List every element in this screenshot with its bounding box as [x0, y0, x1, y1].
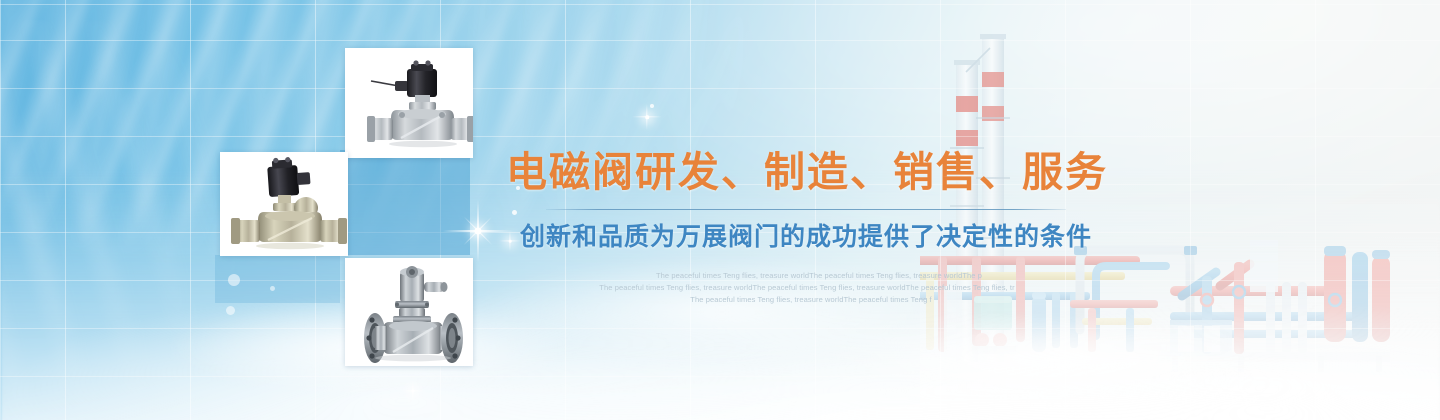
banner-subheadline: 创新和品质为万展阀门的成功提供了决定性的条件 — [506, 221, 1106, 254]
banner-copy: 电磁阀研发、制造、销售、服务 创新和品质为万展阀门的成功提供了决定性的条件 Th… — [506, 148, 1106, 306]
accent-tile-1 — [340, 150, 470, 255]
product-thumbnail-1[interactable] — [345, 48, 473, 158]
product-thumbnail-3[interactable] — [345, 258, 473, 366]
solenoid-valve-brass-angled-icon — [220, 152, 348, 256]
banner-blurb: The peaceful times Teng flies, treasure … — [591, 270, 1021, 306]
hero-banner: 电磁阀研发、制造、销售、服务 创新和品质为万展阀门的成功提供了决定性的条件 Th… — [0, 0, 1440, 420]
accent-tile-2 — [215, 255, 340, 303]
blurb-line-2: The peaceful times Teng flies, treasure … — [577, 282, 1037, 294]
banner-headline: 电磁阀研发、制造、销售、服务 — [506, 148, 1106, 196]
blurb-line-3: The peaceful times Teng flies, treasure … — [591, 294, 1021, 306]
headline-divider — [546, 209, 1066, 210]
product-thumbnail-2[interactable] — [220, 152, 348, 256]
blurb-line-1: The peaceful times Teng flies, treasure … — [591, 270, 1021, 282]
solenoid-valve-threaded-top-icon — [345, 48, 473, 158]
solenoid-valve-flanged-icon — [345, 258, 473, 366]
